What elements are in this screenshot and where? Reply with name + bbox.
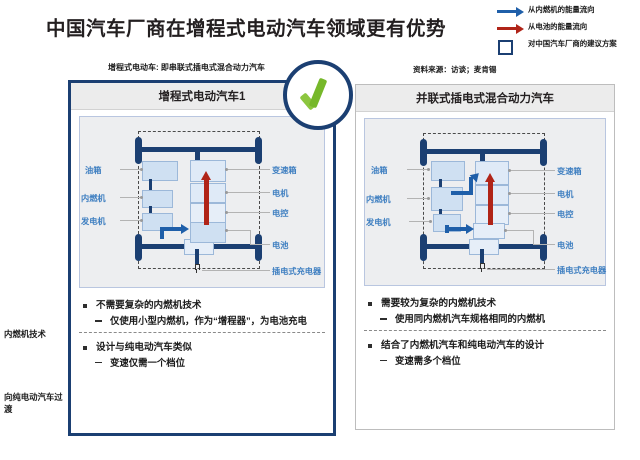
leader-fuel-tank	[407, 169, 429, 170]
bullet-square-icon	[83, 346, 87, 350]
bullet-primary: 结合了内燃机汽车和纯电动汽车的设计	[366, 339, 604, 352]
label-battery: 电池	[557, 239, 573, 251]
flow-blue2-h	[445, 227, 467, 231]
bullet-primary-text: 需要较为复杂的内燃机技术	[381, 297, 496, 310]
bullet-secondary: 仅使用小型内燃机，作为“增程器”，为电池充电	[81, 314, 323, 328]
bullet-dash-icon	[380, 318, 387, 320]
bullet-primary: 设计与纯电动汽车类似	[81, 341, 323, 354]
leader-fuel-tank	[120, 169, 142, 170]
leader-transmission	[511, 170, 555, 171]
leader-controller	[228, 212, 270, 213]
leader-ice	[407, 198, 429, 199]
slide-root: 中国汽车厂商在增程式电动汽车领域更有优势 从内燃机的能量流向 从电池的能量流向 …	[0, 0, 640, 460]
bullet-primary-text: 不需要复杂的内燃机技术	[96, 299, 202, 312]
label-generator: 发电机	[366, 216, 391, 228]
plug-icon	[192, 264, 201, 273]
leader-dot	[140, 168, 143, 171]
plug-icon	[477, 263, 486, 272]
leader-battery-h	[507, 230, 533, 231]
blue-square-icon	[497, 39, 523, 52]
connector-ice-gen	[149, 206, 152, 213]
label-ice: 内燃机	[81, 192, 106, 204]
label-charger: 插电式充电器	[557, 264, 606, 276]
bullet-dash-icon	[95, 362, 102, 364]
leader-controller	[511, 213, 555, 214]
check-icon	[301, 78, 335, 112]
panel-header: 并联式插电式混合动力汽车	[356, 85, 614, 112]
connector-tank-ice	[149, 179, 152, 190]
panel-bullet-rows: 不需要复杂的内燃机技术 仅使用小型内燃机，作为“增程器”，为电池充电 设计与纯电…	[71, 291, 333, 429]
legend: 从内燃机的能量流向 从电池的能量流向 对中国汽车厂商的建议方案	[497, 5, 637, 56]
red-arrow-icon	[497, 22, 523, 35]
box-battery	[190, 222, 226, 243]
box-fuel-tank	[431, 161, 465, 181]
flow-blue-arrowhead	[181, 224, 189, 234]
bullet-square-icon	[368, 302, 372, 306]
row-label-ev-transition: 向纯电动汽车过渡	[4, 391, 66, 415]
bullet-primary-text: 结合了内燃机汽车和纯电动汽车的设计	[381, 339, 544, 352]
leader-dot	[140, 196, 143, 199]
leader-charger	[202, 270, 270, 271]
legend-item-label: 从电池的能量流向	[528, 22, 587, 31]
leader-battery-h	[228, 230, 250, 231]
label-battery: 电池	[272, 239, 288, 251]
diagram-range-extender: 油箱 内燃机 发电机 变速箱 电机 电控 电池	[79, 116, 325, 288]
legend-item-label: 从内燃机的能量流向	[528, 5, 595, 14]
box-ice	[142, 190, 173, 208]
leader-motor	[228, 192, 270, 193]
flow-red-arrowhead	[201, 171, 211, 180]
bullet-primary: 不需要复杂的内燃机技术	[81, 299, 323, 312]
label-ice: 内燃机	[366, 193, 391, 205]
label-controller: 电控	[272, 207, 288, 219]
bullet-secondary: 使用同内燃机汽车规格相同的内燃机	[366, 312, 604, 326]
panel-title: 并联式插电式混合动力汽车	[416, 90, 554, 106]
page-title: 中国汽车厂商在增程式电动汽车领域更有优势	[46, 12, 446, 41]
bullet-secondary: 变速需多个档位	[366, 354, 604, 368]
bullet-secondary: 变速仅需一个档位	[81, 356, 323, 370]
legend-item-label: 对中国汽车厂商的建议方案	[528, 39, 617, 48]
label-charger: 插电式充电器	[272, 265, 321, 277]
bullet-dash-icon	[95, 320, 102, 322]
blue-arrow-icon	[497, 5, 523, 18]
green-check-badge	[283, 60, 353, 130]
bullet-secondary-text: 仅使用小型内燃机，作为“增程器”，为电池充电	[110, 314, 307, 328]
leader-generator	[409, 221, 431, 222]
bullet-dash-icon	[380, 360, 387, 362]
rear-module-box	[469, 239, 499, 255]
legend-item-ice-flow: 从内燃机的能量流向	[497, 5, 637, 18]
label-fuel-tank: 油箱	[371, 164, 387, 176]
leader-transmission	[228, 169, 270, 170]
box-fuel-tank	[142, 161, 178, 181]
flow-blue1-v	[469, 177, 473, 195]
leader-ice	[120, 197, 142, 198]
leader-motor	[511, 193, 555, 194]
bullet-secondary-text: 使用同内燃机汽车规格相同的内燃机	[395, 312, 545, 326]
legend-item-recommendation: 对中国汽车厂商的建议方案	[497, 39, 637, 52]
panel-title: 增程式电动汽车1	[159, 88, 246, 104]
diagram-parallel-phev: 油箱 内燃机 发电机 变速箱 电机 电控 电池 插电式充电器	[364, 118, 606, 286]
leader-generator	[120, 220, 142, 221]
bullet-secondary-text: 变速需多个档位	[395, 354, 461, 368]
leader-battery-h2	[250, 244, 270, 245]
bullet-primary-text: 设计与纯电动汽车类似	[96, 341, 192, 354]
label-motor: 电机	[272, 187, 288, 199]
label-fuel-tank: 油箱	[85, 164, 101, 176]
label-generator: 发电机	[81, 215, 106, 227]
box-battery	[473, 223, 505, 239]
flow-red-arrowhead	[485, 173, 495, 182]
panel-range-extender[interactable]: 增程式电动汽车1	[68, 80, 336, 436]
leader-dot	[427, 197, 430, 200]
label-transmission: 变速箱	[557, 165, 582, 177]
leader-dot	[429, 220, 432, 223]
bullet-square-icon	[368, 344, 372, 348]
source-note: 资料来源：访谈；麦肯锡	[413, 64, 497, 75]
flow-red-shaft	[488, 181, 493, 225]
panel-parallel-phev[interactable]: 并联式插电式混合动力汽车	[355, 84, 615, 430]
label-motor: 电机	[557, 188, 573, 200]
leader-battery-h2	[533, 244, 555, 245]
bullet-primary: 需要较为复杂的内燃机技术	[366, 297, 604, 310]
legend-item-battery-flow: 从电池的能量流向	[497, 22, 637, 35]
flow-red-shaft	[204, 179, 209, 225]
bullet-row-ev-transition: 结合了内燃机汽车和纯电动汽车的设计 变速需多个档位	[364, 330, 606, 372]
leader-battery-v	[250, 230, 251, 244]
charge-port-stem	[480, 249, 484, 264]
bullet-row-ev-transition: 设计与纯电动汽车类似 变速仅需一个档位	[79, 332, 325, 374]
bullet-row-ice-tech: 需要较为复杂的内燃机技术 使用同内燃机汽车规格相同的内燃机	[356, 289, 614, 330]
left-panel-subtitle: 增程式电动车: 即串联式插电式混合动力汽车	[108, 62, 265, 73]
panel-bullet-rows: 需要较为复杂的内燃机技术 使用同内燃机汽车规格相同的内燃机 结合了内燃机汽车和纯…	[356, 289, 614, 425]
leader-charger	[487, 269, 555, 270]
bullet-secondary-text: 变速仅需一个档位	[110, 356, 185, 370]
flow-blue2-arrowhead	[466, 224, 474, 234]
leader-battery-v	[533, 230, 534, 244]
label-transmission: 变速箱	[272, 164, 297, 176]
flow-blue-run	[164, 227, 182, 231]
row-label-ice-tech: 内燃机技术	[4, 328, 66, 340]
leader-dot	[427, 168, 430, 171]
bullet-square-icon	[83, 304, 87, 308]
bullet-row-ice-tech: 不需要复杂的内燃机技术 仅使用小型内燃机，作为“增程器”，为电池充电	[71, 291, 333, 332]
charge-port-stem	[195, 249, 199, 265]
leader-dot	[140, 219, 143, 222]
label-controller: 电控	[557, 208, 573, 220]
